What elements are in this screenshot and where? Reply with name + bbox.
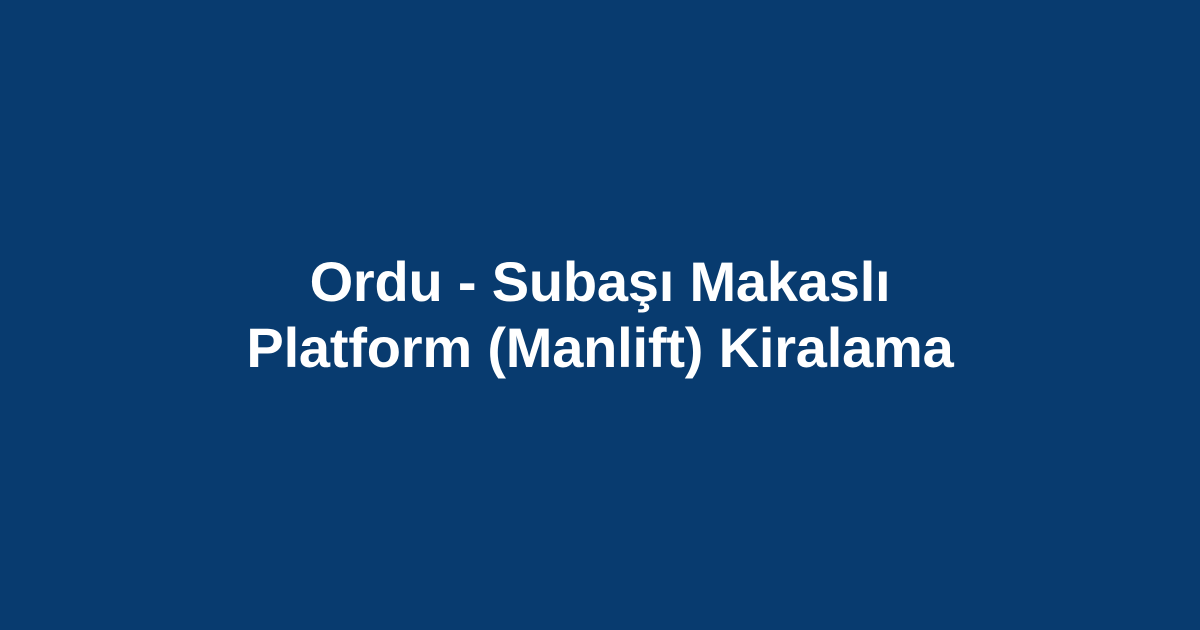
social-share-card: Ordu - Subaşı Makaslı Platform (Manlift)…: [0, 0, 1200, 630]
page-title: Ordu - Subaşı Makaslı Platform (Manlift)…: [190, 249, 1010, 381]
